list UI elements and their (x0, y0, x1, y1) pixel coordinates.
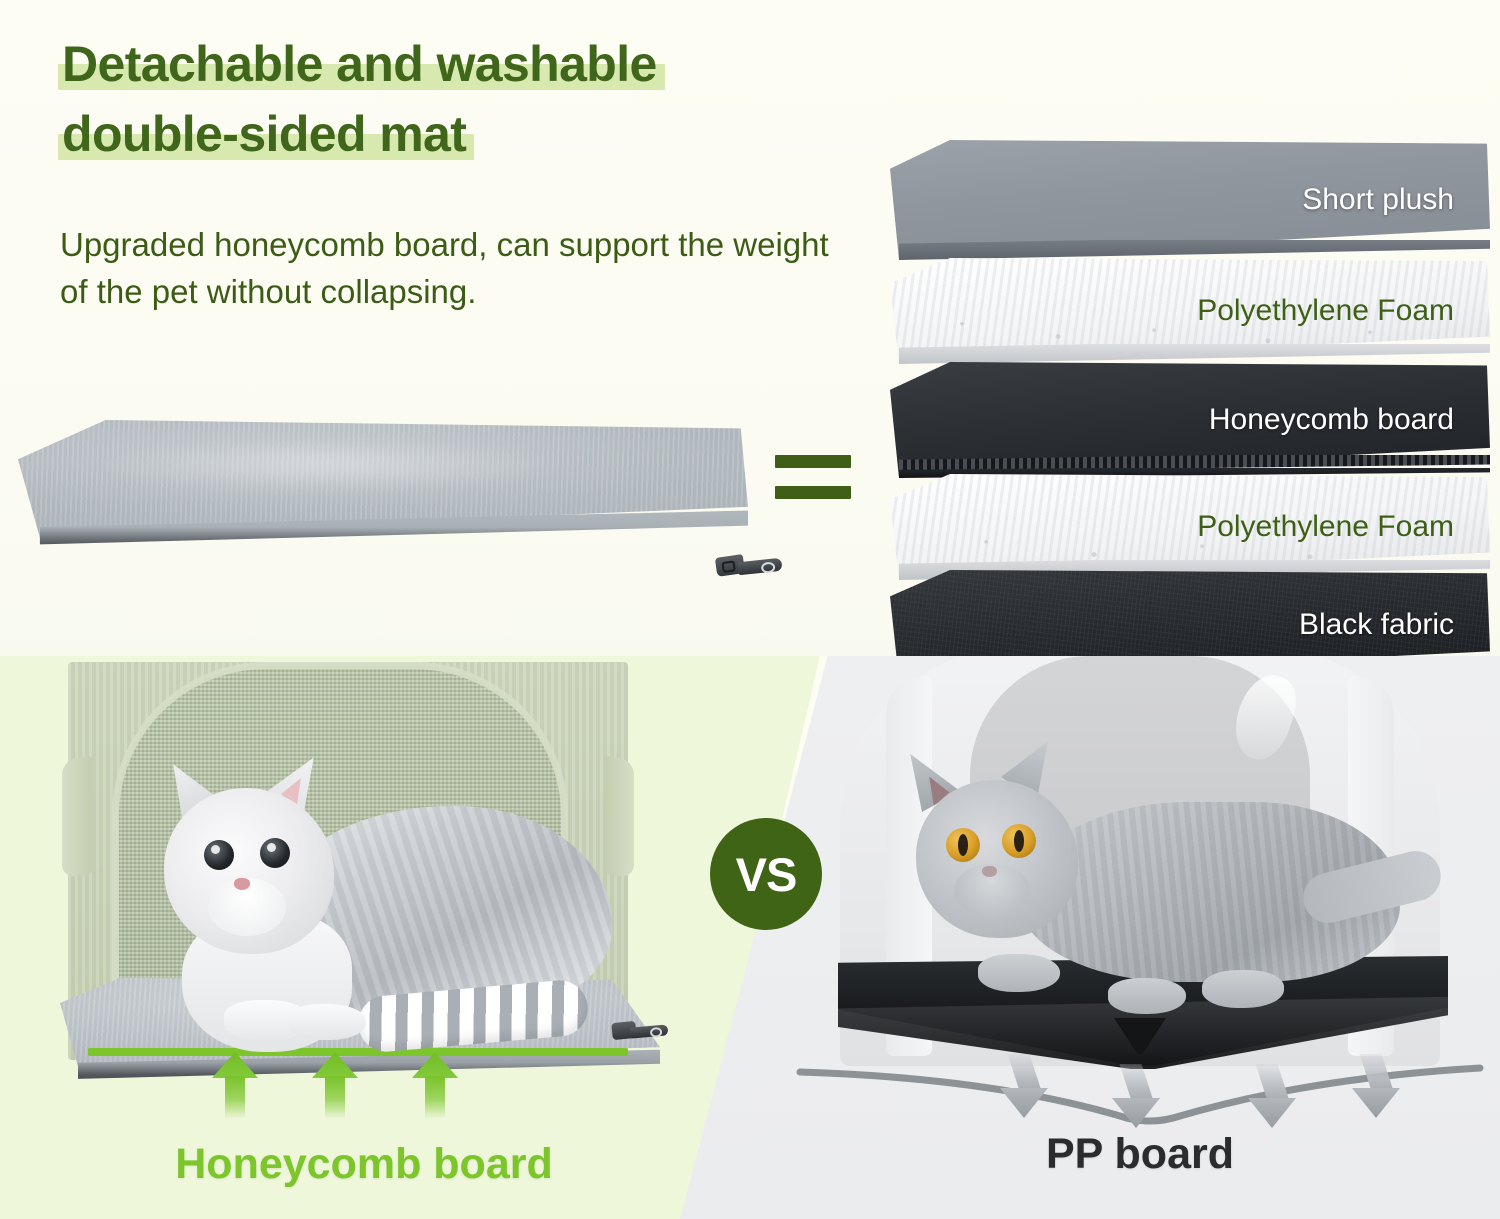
cat-eye-left (204, 840, 234, 870)
equals-sign-icon (775, 455, 851, 515)
layer-slab-edge (890, 240, 1490, 260)
arrow-up-icon (412, 1052, 458, 1118)
layer-polyethylene-foam-bottom: Polyethylene Foam (890, 474, 1490, 580)
layer-label: Honeycomb board (1209, 403, 1454, 437)
vs-label: VS (736, 847, 797, 902)
layer-label: Polyethylene Foam (1197, 510, 1454, 544)
cat-paw-right (288, 1004, 366, 1040)
arrow-head (212, 1052, 258, 1078)
label-pp-board: PP board (840, 1130, 1440, 1179)
mat-highlight (90, 440, 570, 492)
grey-cat-photo (850, 732, 1410, 1032)
arrow-down-icon (1110, 1064, 1162, 1130)
headline-text-1: Detachable and washable (62, 36, 657, 92)
arrow-down-icon (1246, 1064, 1298, 1130)
arrow-up-icon (212, 1052, 258, 1118)
layer-slab-edge (890, 344, 1490, 364)
page-title: Detachable and washable double-sided mat (62, 36, 882, 176)
layer-label: Black fabric (1299, 608, 1454, 642)
equals-bar-bottom (775, 486, 851, 499)
arrow-head (1000, 1088, 1048, 1118)
arrow-up-icon (312, 1052, 358, 1118)
arrow-shaft (325, 1076, 345, 1118)
arrow-down-icon (998, 1054, 1050, 1120)
cat-eye-left (946, 828, 980, 862)
arrow-shaft (225, 1076, 245, 1118)
cat-nose (234, 878, 250, 890)
straight-support-line (88, 1048, 628, 1056)
cat-eye-right (260, 838, 290, 868)
cat-nose (982, 866, 997, 877)
layer-short-plush: Short plush (890, 140, 1490, 260)
top-section: Detachable and washable double-sided mat… (0, 0, 1500, 656)
cat-paw-rear-left (1108, 978, 1186, 1014)
white-cat-photo (112, 752, 632, 1052)
layer-black-fabric: Black fabric (890, 570, 1490, 656)
headline-line-1: Detachable and washable (62, 36, 657, 92)
headline-line-2: double-sided mat (62, 106, 466, 162)
layer-stack-diagram: Short plush Polyethylene Foam Honeycomb … (890, 140, 1490, 600)
layer-label: Polyethylene Foam (1197, 294, 1454, 328)
arrow-head (1248, 1098, 1296, 1128)
vs-badge: VS (710, 818, 822, 930)
arrow-head (1352, 1088, 1400, 1118)
support-arrows-up (0, 1048, 720, 1138)
layer-label: Short plush (1302, 183, 1454, 217)
arrow-head (312, 1052, 358, 1078)
layer-polyethylene-foam-top: Polyethylene Foam (890, 258, 1490, 364)
cat-paw-rear-right (1202, 970, 1284, 1008)
label-honeycomb-board: Honeycomb board (84, 1140, 644, 1189)
comparison-left-scene (0, 656, 720, 1219)
arrow-head (1112, 1098, 1160, 1128)
cat-eye-right (1002, 824, 1036, 858)
carrier-handle-left (62, 756, 92, 879)
arrow-head (412, 1052, 458, 1078)
subtitle-text: Upgraded honeycomb board, can support th… (60, 222, 860, 316)
layer-honeycomb-board: Honeycomb board (890, 362, 1490, 478)
arrow-shaft (425, 1076, 445, 1118)
cat-paw-front-left (978, 954, 1060, 992)
equals-bar-top (775, 455, 851, 468)
product-mat-photo (0, 398, 800, 628)
infographic-page: Detachable and washable double-sided mat… (0, 0, 1500, 1219)
arrow-down-icon (1350, 1054, 1402, 1120)
headline-text-2: double-sided mat (62, 106, 466, 162)
